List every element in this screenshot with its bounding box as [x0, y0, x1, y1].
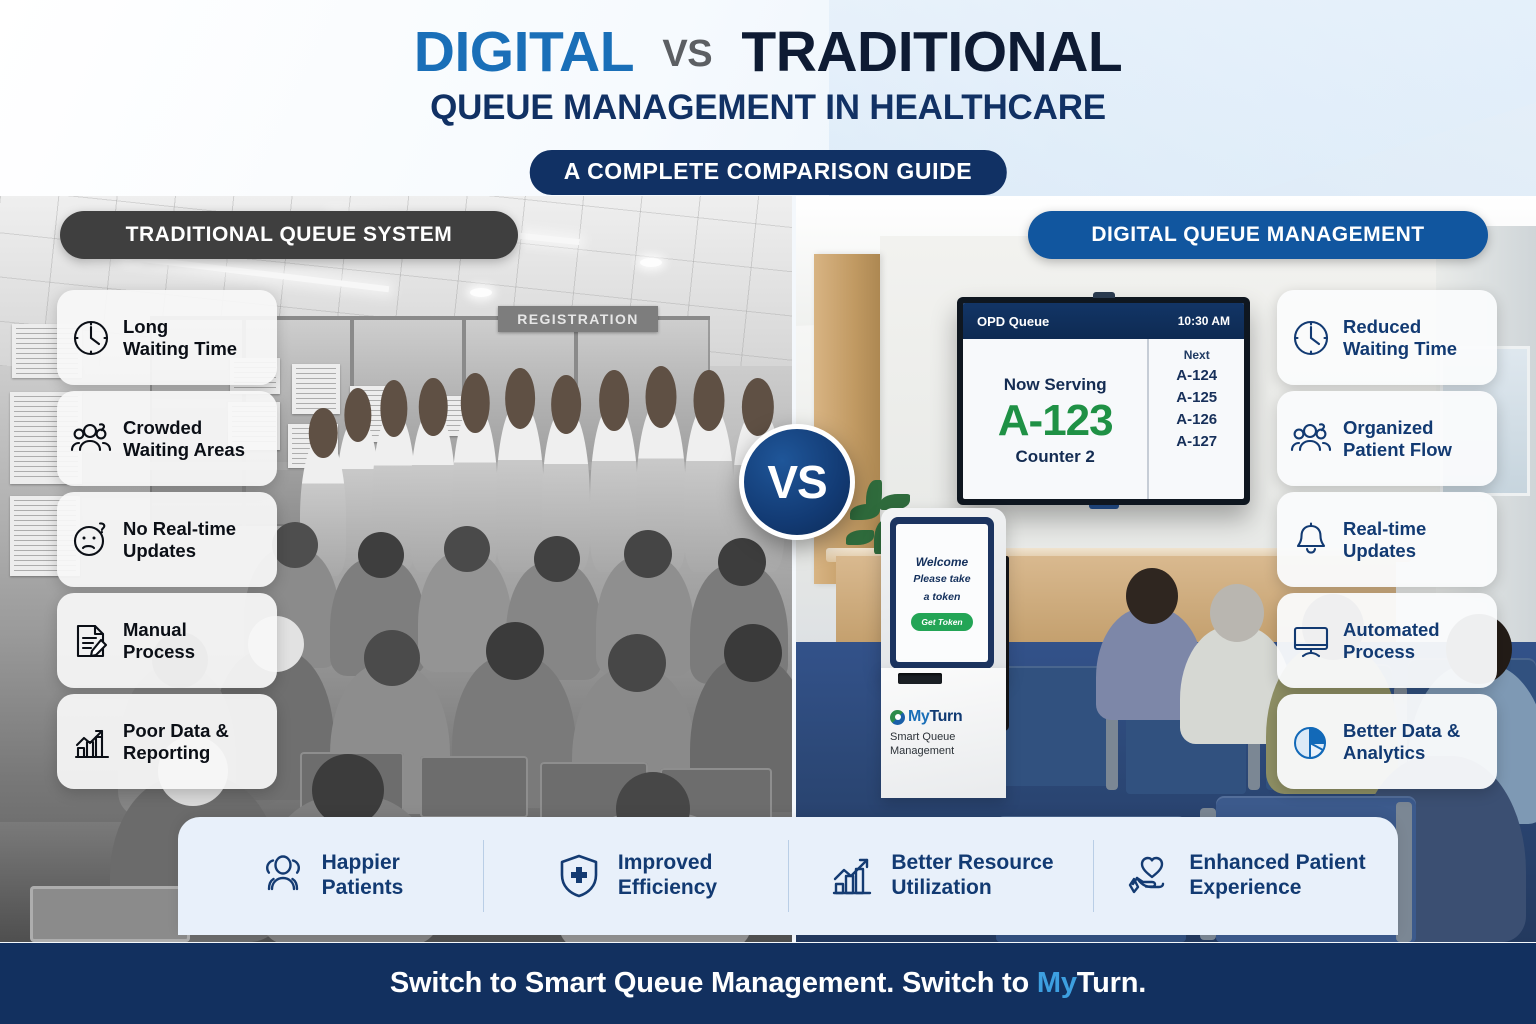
- card-crowded-waiting-areas[interactable]: Crowded Waiting Areas: [57, 391, 277, 486]
- title-traditional: TRADITIONAL: [741, 20, 1122, 84]
- people-icon: [70, 418, 112, 460]
- ticket-slot: [898, 673, 942, 684]
- kiosk-head: Welcome Please take a token Get Token: [881, 508, 1006, 678]
- next-token: A-125: [1176, 389, 1217, 406]
- kiosk-tagline-line1: Smart Queue: [890, 730, 955, 744]
- queue-display-tv: OPD Queue 10:30 AM Now Serving A-123 Cou…: [957, 297, 1250, 505]
- kiosk-tagline-line2: Management: [890, 744, 955, 758]
- kiosk-welcome-text: Welcome: [916, 555, 968, 569]
- card-line1: Crowded: [123, 417, 245, 439]
- current-token: A-123: [998, 398, 1113, 444]
- card-label: Automated Process: [1343, 619, 1440, 663]
- people-icon: [1290, 418, 1332, 460]
- card-better-data-analytics[interactable]: Better Data & Analytics: [1277, 694, 1497, 789]
- card-manual-process[interactable]: Manual Process: [57, 593, 277, 688]
- traditional-feature-list: Long Waiting Time Crowded Waiting Areas: [57, 290, 277, 795]
- card-line1: Manual: [123, 619, 195, 641]
- card-label: Long Waiting Time: [123, 316, 237, 360]
- card-line1: Automated: [1343, 619, 1440, 641]
- next-tokens-panel: Next A-124 A-125 A-126 A-127: [1147, 339, 1244, 499]
- card-line2: Waiting Areas: [123, 439, 245, 461]
- card-line1: Reduced: [1343, 316, 1457, 338]
- comparison-guide-pill: A COMPLETE COMPARISON GUIDE: [530, 150, 1007, 195]
- traditional-section-badge: TRADITIONAL QUEUE SYSTEM: [60, 211, 518, 259]
- card-realtime-updates[interactable]: Real-time Updates: [1277, 492, 1497, 587]
- card-label: Organized Patient Flow: [1343, 417, 1452, 461]
- benefit-label: Improved Efficiency: [618, 851, 717, 901]
- infographic-canvas: DIGITAL VS TRADITIONAL QUEUE MANAGEMENT …: [0, 0, 1536, 1024]
- benefit-happier-patients[interactable]: Happier Patients: [178, 840, 483, 912]
- myturn-logo-icon: [890, 710, 905, 725]
- kiosk-body: MyTurn Smart Queue Management: [881, 668, 1006, 798]
- kiosk-tagline: Smart Queue Management: [890, 730, 955, 759]
- card-label: Manual Process: [123, 619, 195, 663]
- footer-brand-my: My: [1037, 967, 1077, 999]
- card-line1: Poor Data &: [123, 720, 229, 742]
- benefit-line1: Enhanced Patient: [1189, 851, 1365, 876]
- card-poor-data-reporting[interactable]: Poor Data & Reporting: [57, 694, 277, 789]
- card-line2: Reporting: [123, 742, 229, 764]
- tv-queue-title: OPD Queue: [977, 314, 1049, 329]
- card-label: Reduced Waiting Time: [1343, 316, 1457, 360]
- card-long-waiting-time[interactable]: Long Waiting Time: [57, 290, 277, 385]
- card-label: Crowded Waiting Areas: [123, 417, 245, 461]
- card-label: Poor Data & Reporting: [123, 720, 229, 764]
- registration-sign: REGISTRATION: [498, 306, 658, 332]
- clock-icon: [1290, 317, 1332, 359]
- card-line2: Waiting Time: [1343, 338, 1457, 360]
- kiosk-instruction-line1: Please take: [913, 573, 970, 586]
- benefit-line2: Patients: [322, 876, 404, 901]
- benefit-line1: Happier: [322, 851, 404, 876]
- bar-chart-icon: [70, 721, 112, 763]
- card-line1: Organized: [1343, 417, 1452, 439]
- card-line2: Updates: [123, 540, 236, 562]
- tv-status-bar: OPD Queue 10:30 AM: [963, 303, 1244, 339]
- benefit-line2: Efficiency: [618, 876, 717, 901]
- tv-screen: OPD Queue 10:30 AM Now Serving A-123 Cou…: [963, 303, 1244, 499]
- card-line2: Process: [123, 641, 195, 663]
- card-line2: Process: [1343, 641, 1440, 663]
- tv-clock: 10:30 AM: [1178, 314, 1230, 328]
- now-serving-panel: Now Serving A-123 Counter 2: [963, 339, 1147, 499]
- kiosk-instruction-line2: a token: [924, 591, 961, 604]
- kiosk-brand: MyTurn: [890, 708, 962, 726]
- counter-label: Counter 2: [1016, 447, 1095, 467]
- footer-bar: Switch to Smart Queue Management. Switch…: [0, 943, 1536, 1024]
- happy-people-icon: [258, 851, 308, 901]
- title-vs: VS: [648, 33, 726, 75]
- benefit-label: Better Resource Utilization: [891, 851, 1053, 901]
- card-label: Real-time Updates: [1343, 518, 1426, 562]
- benefit-enhanced-patient-experience[interactable]: Enhanced Patient Experience: [1093, 840, 1398, 912]
- title-digital: DIGITAL: [414, 20, 633, 84]
- benefit-line2: Experience: [1189, 876, 1365, 901]
- next-token: A-124: [1176, 367, 1217, 384]
- card-no-realtime-updates[interactable]: No Real-time Updates: [57, 492, 277, 587]
- shield-plus-icon: [554, 851, 604, 901]
- vs-badge: VS: [739, 424, 855, 540]
- page-subtitle: QUEUE MANAGEMENT IN HEALTHCARE: [0, 88, 1536, 128]
- pie-chart-icon: [1290, 721, 1332, 763]
- heart-hand-icon: [1125, 851, 1175, 901]
- document-pen-icon: [70, 620, 112, 662]
- benefit-better-resource-utilization[interactable]: Better Resource Utilization: [788, 840, 1093, 912]
- benefit-label: Happier Patients: [322, 851, 404, 901]
- footer-brand-turn: Turn.: [1077, 967, 1146, 999]
- card-line2: Patient Flow: [1343, 439, 1452, 461]
- next-label: Next: [1184, 348, 1210, 362]
- self-service-kiosk[interactable]: Welcome Please take a token Get Token My…: [881, 508, 1014, 798]
- card-reduced-waiting-time[interactable]: Reduced Waiting Time: [1277, 290, 1497, 385]
- kiosk-brand-my: My: [908, 708, 929, 725]
- get-token-button[interactable]: Get Token: [911, 613, 972, 631]
- card-automated-process[interactable]: Automated Process: [1277, 593, 1497, 688]
- digital-feature-list: Reduced Waiting Time Organized Patient F…: [1277, 290, 1497, 795]
- benefit-line2: Utilization: [891, 876, 1053, 901]
- now-serving-label: Now Serving: [1004, 375, 1107, 395]
- clock-icon: [70, 317, 112, 359]
- card-line2: Waiting Time: [123, 338, 237, 360]
- benefit-line1: Improved: [618, 851, 717, 876]
- card-line1: Real-time: [1343, 518, 1426, 540]
- card-line2: Analytics: [1343, 742, 1460, 764]
- page-title: DIGITAL VS TRADITIONAL: [0, 24, 1536, 81]
- footer-cta: Switch to Smart Queue Management. Switch…: [390, 967, 1146, 1000]
- sad-face-icon: [70, 519, 112, 561]
- bell-icon: [1290, 519, 1332, 561]
- next-token: A-126: [1176, 411, 1217, 428]
- benefits-bar: Happier Patients Improved Efficiency: [178, 817, 1398, 935]
- kiosk-screen[interactable]: Welcome Please take a token Get Token: [896, 524, 988, 662]
- card-label: No Real-time Updates: [123, 518, 236, 562]
- card-line2: Updates: [1343, 540, 1426, 562]
- card-organized-patient-flow[interactable]: Organized Patient Flow: [1277, 391, 1497, 486]
- digital-section-badge: DIGITAL QUEUE MANAGEMENT: [1028, 211, 1488, 259]
- benefit-label: Enhanced Patient Experience: [1189, 851, 1365, 901]
- kiosk-brand-turn: Turn: [929, 708, 962, 725]
- next-token: A-127: [1176, 433, 1217, 450]
- card-line1: Long: [123, 316, 237, 338]
- monitor-icon: [1290, 620, 1332, 662]
- benefit-improved-efficiency[interactable]: Improved Efficiency: [483, 840, 788, 912]
- growth-chart-icon: [827, 851, 877, 901]
- card-label: Better Data & Analytics: [1343, 720, 1460, 764]
- footer-cta-text: Switch to Smart Queue Management. Switch…: [390, 967, 1037, 999]
- benefit-line1: Better Resource: [891, 851, 1053, 876]
- card-line1: No Real-time: [123, 518, 236, 540]
- card-line1: Better Data &: [1343, 720, 1460, 742]
